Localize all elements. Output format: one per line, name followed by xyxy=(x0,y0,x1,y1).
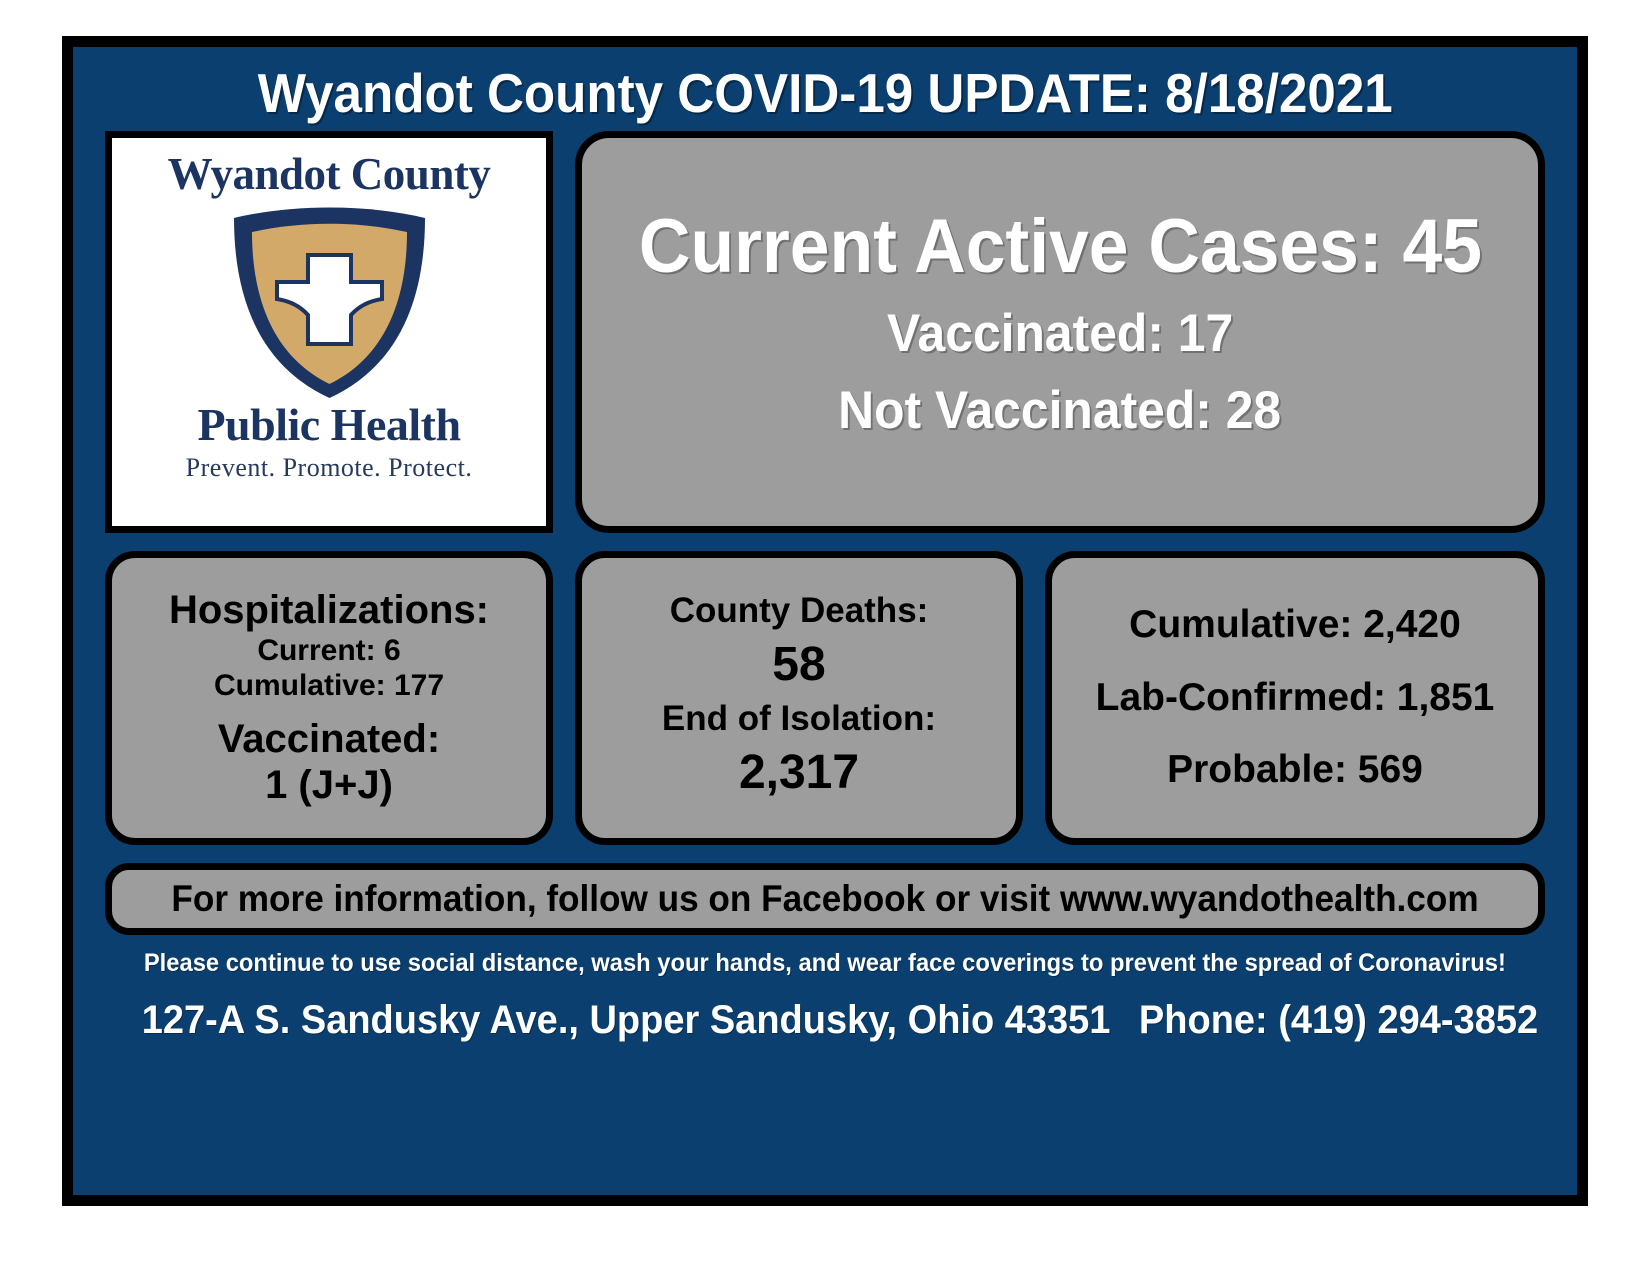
phone-text: Phone: (419) 294-3852 xyxy=(1139,998,1538,1042)
active-cases-not-vaccinated: Not Vaccinated: 28 xyxy=(838,380,1281,441)
address-text: 127-A S. Sandusky Ave., Upper Sandusky, … xyxy=(142,998,1005,1042)
shield-cross-icon xyxy=(222,202,437,402)
active-cases-panel: Current Active Cases: 45 Vaccinated: 17 … xyxy=(575,131,1545,533)
deaths-panel: County Deaths: 58 End of Isolation: 2,31… xyxy=(575,551,1023,845)
agency-logo-card: Wyandot County Public Health Prevent. Pr… xyxy=(105,131,553,533)
more-information-bar[interactable]: For more information, follow us on Faceb… xyxy=(105,863,1545,935)
logo-tagline: Prevent. Promote. Protect. xyxy=(186,453,473,483)
contact-line: 127-A S. Sandusky Ave., Upper Sandusky, … xyxy=(142,998,1538,1043)
active-cases-headline: Current Active Cases: 45 xyxy=(638,207,1481,287)
cumulative-lab-confirmed: Lab-Confirmed: 1,851 xyxy=(1096,675,1495,722)
end-of-isolation-value: 2,317 xyxy=(739,744,859,802)
guidance-text: Please continue to use social distance, … xyxy=(144,949,1506,978)
hospitalizations-current: Current: 6 xyxy=(257,633,400,668)
info-row: For more information, follow us on Faceb… xyxy=(73,845,1577,935)
cumulative-probable: Probable: 569 xyxy=(1167,747,1423,794)
covid-update-poster: Wyandot County COVID-19 UPDATE: 8/18/202… xyxy=(62,36,1588,1206)
hospitalizations-vaccinated-value: 1 (J+J) xyxy=(265,762,393,808)
stats-row: Hospitalizations: Current: 6 Cumulative:… xyxy=(73,533,1577,845)
title-bar: Wyandot County COVID-19 UPDATE: 8/18/202… xyxy=(73,47,1577,131)
page-title: Wyandot County COVID-19 UPDATE: 8/18/202… xyxy=(257,61,1392,125)
deaths-value: 58 xyxy=(772,636,825,694)
cumulative-panel: Cumulative: 2,420 Lab-Confirmed: 1,851 P… xyxy=(1045,551,1545,845)
top-row: Wyandot County Public Health Prevent. Pr… xyxy=(73,131,1577,533)
hospitalizations-title: Hospitalizations: xyxy=(169,588,489,633)
more-information-text: For more information, follow us on Faceb… xyxy=(171,878,1478,920)
footer-notes: Please continue to use social distance, … xyxy=(73,935,1577,1043)
deaths-label: County Deaths: xyxy=(670,590,929,632)
zip-code: 43351 xyxy=(1005,998,1111,1042)
active-cases-vaccinated: Vaccinated: 17 xyxy=(887,303,1233,364)
end-of-isolation-label: End of Isolation: xyxy=(662,698,936,740)
logo-line-county: Wyandot County xyxy=(168,148,491,200)
cumulative-total: Cumulative: 2,420 xyxy=(1129,602,1461,649)
logo-line-public-health: Public Health xyxy=(197,398,460,451)
hospitalizations-panel: Hospitalizations: Current: 6 Cumulative:… xyxy=(105,551,553,845)
hospitalizations-cumulative: Cumulative: 177 xyxy=(214,668,444,703)
hospitalizations-vaccinated-label: Vaccinated: xyxy=(218,716,440,762)
